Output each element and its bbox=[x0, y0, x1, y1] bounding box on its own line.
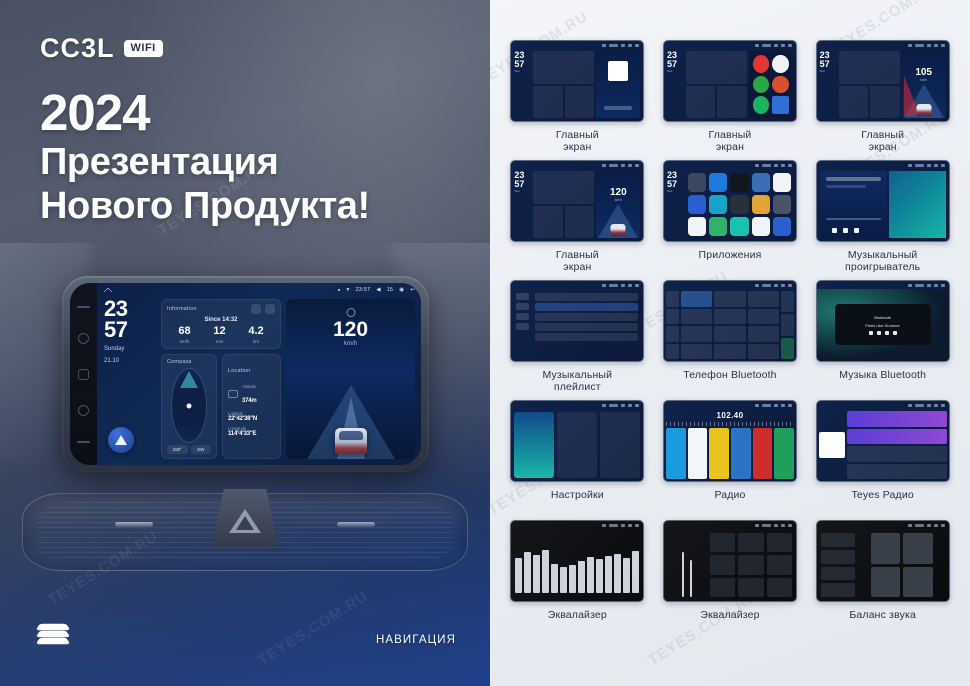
thumb-settings bbox=[511, 409, 643, 481]
altitude-row: Altitude 374m bbox=[228, 380, 275, 407]
volume-key-icon[interactable] bbox=[78, 405, 89, 416]
vent-knob-right bbox=[337, 522, 375, 527]
thumb-status-bar bbox=[664, 41, 796, 49]
thumb-playlist bbox=[511, 289, 643, 361]
back-icon[interactable]: ↩ bbox=[410, 287, 415, 293]
layers-icon-mid bbox=[35, 631, 70, 637]
radio-presets[interactable] bbox=[666, 428, 794, 479]
clock-day: Sunday bbox=[104, 345, 156, 353]
thumb-radio: 102.40 bbox=[664, 409, 796, 481]
volume-icon: ◀ bbox=[376, 287, 380, 293]
headline-block: 2024 Презентация Нового Продукта! bbox=[40, 86, 470, 228]
thumb-speed-value: 105km/h bbox=[902, 67, 946, 82]
status-bar: ▾ 23:57 ◀ 15 ◉ ↩ bbox=[338, 287, 415, 293]
headline-line-2: Нового Продукта! bbox=[40, 184, 470, 228]
power-key-icon[interactable] bbox=[77, 306, 90, 308]
brand-model-text: CC3L bbox=[40, 33, 115, 64]
information-title: Information bbox=[167, 306, 197, 312]
speed-camera-icon bbox=[346, 308, 355, 317]
thumb-clock: 2357Sun bbox=[820, 51, 837, 118]
thumb-status-bar bbox=[511, 401, 643, 409]
screenshot-thumbnail[interactable]: 2357Sun bbox=[663, 160, 797, 242]
status-time: 23:57 bbox=[355, 287, 370, 293]
gallery-caption: Баланс звука bbox=[849, 609, 916, 621]
gallery-caption: Эквалайзер bbox=[700, 609, 759, 621]
thumb-status-bar bbox=[664, 281, 796, 289]
bt-track: Feels Like Summer bbox=[865, 323, 899, 328]
compass-widget[interactable]: Compass 180° SW bbox=[161, 354, 217, 459]
thumb-bluetooth-dialer bbox=[664, 289, 796, 361]
thumb-media-pane bbox=[596, 51, 640, 118]
thumb-status-bar bbox=[817, 521, 949, 529]
stat-item: 68 km/h bbox=[178, 326, 190, 344]
gallery-item[interactable]: Телефон Bluetooth bbox=[656, 280, 805, 400]
gallery-grid: 2357Sun Главныйэкран 2357Sun bbox=[503, 40, 957, 640]
compass-direction: SW bbox=[191, 445, 212, 454]
layers-icon-top bbox=[35, 624, 70, 630]
thumb-app-grid bbox=[686, 171, 793, 238]
vent-knob-left bbox=[115, 522, 153, 527]
stat-unit: km bbox=[248, 339, 263, 344]
hazard-triangle-inner bbox=[236, 516, 254, 530]
widgets-bottom-row: Compass 180° SW Location bbox=[161, 354, 281, 459]
thumb-status-bar bbox=[817, 401, 949, 409]
gallery-item[interactable]: Эквалайзер bbox=[503, 520, 652, 640]
thumb-music-player bbox=[817, 169, 949, 241]
gallery-caption: Настройки bbox=[551, 489, 604, 501]
home-screen[interactable]: ▾ 23:57 ◀ 15 ◉ ↩ 23 57 Sunday 21.10 bbox=[97, 283, 421, 465]
screenshot-thumbnail[interactable]: 2357Sun bbox=[510, 40, 644, 122]
screenshot-thumbnail[interactable] bbox=[816, 400, 950, 482]
trip-stats: 68 km/h 12 min 4.2 km bbox=[167, 326, 275, 344]
stat-value: 68 bbox=[178, 326, 190, 337]
thumb-status-bar bbox=[511, 521, 643, 529]
gallery-item[interactable]: 2357Sun Главныйэкран bbox=[503, 40, 652, 160]
car-graphic bbox=[335, 428, 367, 454]
screenshot-thumbnail[interactable] bbox=[510, 280, 644, 362]
headline-line-1: Презентация bbox=[40, 140, 470, 184]
thumb-status-bar bbox=[511, 161, 643, 169]
clock-widget[interactable]: 23 57 Sunday 21.10 bbox=[104, 299, 156, 459]
altitude-value: 374m bbox=[242, 398, 257, 404]
location-widget[interactable]: Location Altitude 374m Latitude bbox=[222, 354, 281, 459]
head-unit-hard-keys[interactable] bbox=[70, 283, 97, 465]
thumb-clock: 2357Sun bbox=[514, 171, 531, 238]
car-dashboard-photo: ▾ 23:57 ◀ 15 ◉ ↩ 23 57 Sunday 21.10 bbox=[0, 243, 490, 686]
gallery-caption: Главныйэкран bbox=[556, 129, 599, 154]
gallery-caption: Музыкальныйпроигрыватель bbox=[845, 249, 920, 274]
screenshot-thumbnail[interactable]: 2357Sun 105km/h bbox=[816, 40, 950, 122]
widgets-column: Information Since 14:32 68 bbox=[161, 299, 281, 459]
thumb-speed-value: 120km/h bbox=[596, 187, 640, 202]
thumb-apps-rail bbox=[749, 51, 793, 118]
gallery-item[interactable]: Баланс звука bbox=[808, 520, 957, 640]
thumb-status-bar bbox=[664, 521, 796, 529]
stat-item: 12 min bbox=[213, 326, 225, 344]
gallery-item[interactable]: Эквалайзер bbox=[656, 520, 805, 640]
thumb-bluetooth-music: Bluetooth Feels Like Summer bbox=[817, 289, 949, 361]
mountain-icon bbox=[228, 390, 238, 398]
gallery-item[interactable]: 102.40 Радио bbox=[656, 400, 805, 520]
bt-title: Bluetooth bbox=[874, 315, 891, 320]
gallery-caption: Эквалайзер bbox=[548, 609, 607, 621]
gallery-item[interactable]: Музыкальныйплейлист bbox=[503, 280, 652, 400]
speed-value: 120 bbox=[286, 319, 415, 340]
longitude-value: 114°4'33"E bbox=[228, 431, 275, 437]
gallery-caption: Телефон Bluetooth bbox=[683, 369, 776, 381]
screenshot-thumbnail[interactable] bbox=[510, 520, 644, 602]
expand-icon[interactable] bbox=[265, 304, 275, 314]
stat-unit: min bbox=[213, 339, 225, 344]
gallery-caption: Главныйэкран bbox=[861, 129, 904, 154]
gallery-caption: Радио bbox=[714, 489, 745, 501]
navigation-button[interactable] bbox=[108, 427, 134, 453]
gallery-item[interactable]: 2357Sun 120km/h Главныйэкран bbox=[503, 160, 652, 280]
thumb-status-bar bbox=[817, 41, 949, 49]
compass-title: Compass bbox=[167, 359, 211, 365]
gallery-caption: Приложения bbox=[699, 249, 762, 261]
gallery-caption: Teyes Радио bbox=[852, 489, 914, 501]
screenshot-thumbnail[interactable]: 102.40 bbox=[663, 400, 797, 482]
menu-key-icon[interactable] bbox=[78, 369, 89, 380]
gallery-caption: Главныйэкран bbox=[556, 249, 599, 274]
screenshot-thumbnail[interactable] bbox=[663, 520, 797, 602]
clock-date: 21.10 bbox=[104, 357, 156, 365]
signal-dot-icon bbox=[338, 289, 340, 291]
gallery-item[interactable]: Bluetooth Feels Like Summer Музыка Bluet… bbox=[808, 280, 957, 400]
stat-value: 12 bbox=[213, 326, 225, 337]
speed-widget[interactable]: 120 km/h bbox=[286, 299, 415, 459]
clock-minutes: 57 bbox=[104, 320, 156, 341]
gallery-caption: Главныйэкран bbox=[709, 129, 752, 154]
gallery-item[interactable]: 2357Sun 105km/h Главныйэкран bbox=[808, 40, 957, 160]
information-actions[interactable] bbox=[251, 304, 275, 314]
brand-logo: CC3L WIFI bbox=[40, 33, 163, 64]
thumb-status-bar bbox=[511, 41, 643, 49]
home-key-icon[interactable] bbox=[78, 333, 89, 344]
information-header: Information bbox=[167, 304, 275, 314]
headline-year: 2024 bbox=[40, 86, 470, 140]
head-unit-device: ▾ 23:57 ◀ 15 ◉ ↩ 23 57 Sunday 21.10 bbox=[62, 276, 429, 472]
thumb-speed-pane: 120km/h bbox=[596, 171, 640, 238]
screenshot-thumbnail[interactable]: 2357Sun 120km/h bbox=[510, 160, 644, 242]
screenshot-gallery-panel: TEYES.COM.RU TEYES.COM.RU TEYES.COM.RU T… bbox=[490, 0, 970, 686]
screenshot-thumbnail[interactable] bbox=[816, 160, 950, 242]
gallery-item[interactable]: 2357Sun Главныйэкран bbox=[656, 40, 805, 160]
back-key-icon[interactable] bbox=[77, 441, 90, 443]
layers-icon bbox=[38, 622, 68, 652]
gallery-item[interactable]: 2357Sun Приложения bbox=[656, 160, 805, 280]
compass-readout: 180° SW bbox=[167, 445, 211, 454]
thumb-clock: 2357Sun bbox=[667, 51, 684, 118]
thumb-status-bar bbox=[511, 281, 643, 289]
stat-unit: km/h bbox=[178, 339, 190, 344]
thumb-lane-warning-pane: 105km/h bbox=[902, 51, 946, 118]
thumb-status-bar bbox=[664, 161, 796, 169]
thumb-equalizer-bands[interactable] bbox=[511, 529, 643, 601]
screenshot-thumbnail[interactable]: 2357Sun bbox=[663, 40, 797, 122]
gallery-item[interactable]: Настройки bbox=[503, 400, 652, 520]
home-screen-body: 23 57 Sunday 21.10 Information bbox=[97, 297, 421, 465]
thumb-clock: 2357Sun bbox=[514, 51, 531, 118]
wifi-icon: ▾ bbox=[346, 287, 349, 293]
layers-icon-bottom bbox=[35, 638, 70, 644]
thumb-teyes-radio bbox=[817, 409, 949, 481]
stat-item: 4.2 km bbox=[248, 326, 263, 344]
altitude-label: Altitude bbox=[242, 384, 257, 389]
thumb-sound-balance[interactable] bbox=[817, 529, 949, 601]
information-since: Since 14:32 bbox=[167, 317, 275, 323]
navigation-label: НАВИГАЦИЯ bbox=[376, 634, 456, 646]
screenshot-thumbnail[interactable] bbox=[663, 280, 797, 362]
thumb-equalizer-simple[interactable] bbox=[664, 529, 796, 601]
stat-value: 4.2 bbox=[248, 326, 263, 337]
screenshot-icon[interactable]: ◉ bbox=[399, 287, 404, 293]
radio-frequency: 102.40 bbox=[666, 411, 794, 420]
information-widget[interactable]: Information Since 14:32 68 bbox=[161, 299, 281, 349]
screenshot-thumbnail[interactable] bbox=[816, 520, 950, 602]
gallery-item[interactable]: Teyes Радио bbox=[808, 400, 957, 520]
gallery-caption: Музыка Bluetooth bbox=[839, 369, 926, 381]
head-unit-screen-frame: ▾ 23:57 ◀ 15 ◉ ↩ 23 57 Sunday 21.10 bbox=[70, 283, 421, 465]
thumb-status-bar bbox=[817, 281, 949, 289]
location-title: Location bbox=[228, 368, 250, 374]
wifi-badge: WIFI bbox=[124, 40, 163, 57]
thumb-status-bar bbox=[664, 401, 796, 409]
thumb-clock: 2357Sun bbox=[667, 171, 684, 238]
speed-unit: km/h bbox=[286, 341, 415, 347]
compass-heading: 180° bbox=[167, 445, 188, 454]
screenshot-thumbnail[interactable] bbox=[510, 400, 644, 482]
gallery-caption: Музыкальныйплейлист bbox=[543, 369, 613, 394]
compass-dial bbox=[171, 368, 207, 443]
left-hero-panel: TEYES.COM.RU TEYES.COM.RU TEYES.COM.RU C… bbox=[0, 0, 490, 686]
screenshot-thumbnail[interactable]: Bluetooth Feels Like Summer bbox=[816, 280, 950, 362]
refresh-icon[interactable] bbox=[251, 304, 261, 314]
status-volume: 15 bbox=[387, 287, 394, 293]
thumb-status-bar bbox=[817, 161, 949, 169]
latitude-value: 22°42'38"N bbox=[228, 416, 275, 422]
gallery-item[interactable]: Музыкальныйпроигрыватель bbox=[808, 160, 957, 280]
